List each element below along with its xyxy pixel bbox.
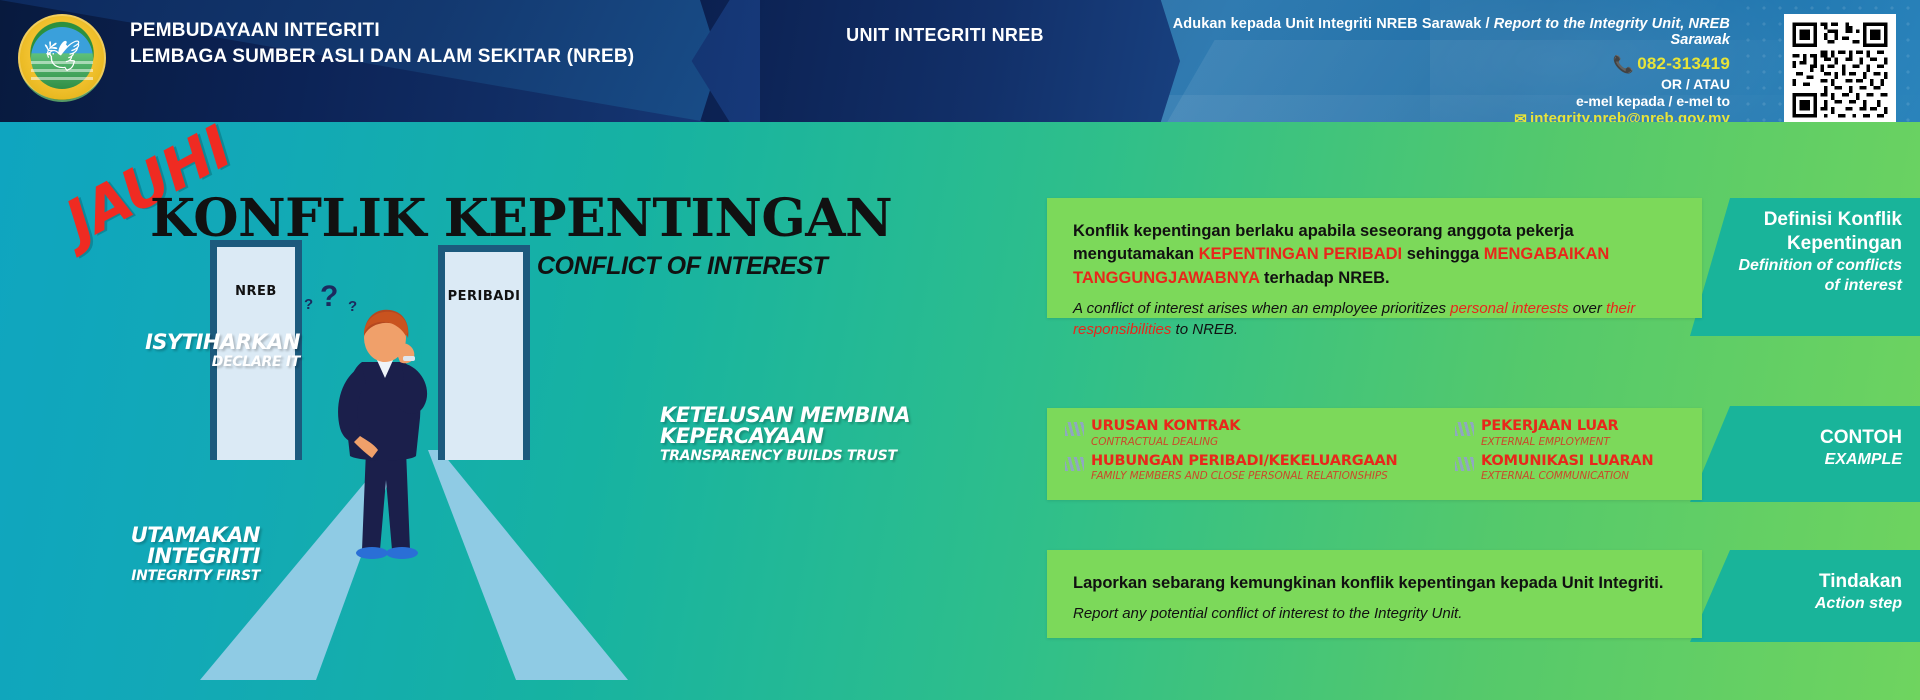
infographic-poster: 🕊 PEMBUDAYAAN INTEGRITI LEMBAGA SUMBER A… (0, 0, 1920, 700)
tab-action-ms: Tindakan (1736, 570, 1902, 594)
doors-illustration: NREB PERIBADI ? ? ? (210, 290, 810, 690)
logo-stripe (31, 77, 93, 80)
phone-number: 082-313419 (1637, 54, 1730, 73)
contact-email-label: e-mel kepada / e-mel to (1110, 93, 1730, 109)
tab-example-ms: CONTOH (1736, 426, 1902, 450)
example-item-ms: PEKERJAAN LUAR (1481, 418, 1619, 435)
def-ms-part2: sehingga (1402, 245, 1484, 263)
def-en-part2: over (1569, 300, 1607, 317)
label-declare-ms: ISYTIHARKAN (110, 332, 300, 353)
light-beam-right (428, 450, 628, 680)
example-item: URUSAN KONTRAK CONTRACTUAL DEALING (1065, 418, 1455, 448)
tab-action-en: Action step (1736, 594, 1902, 614)
action-text-ms: Laporkan sebarang kemungkinan konflik ke… (1073, 572, 1676, 595)
example-item-ms: HUBUNGAN PERIBADI/KEKELUARGAAN (1091, 453, 1397, 470)
definition-text-ms: Konflik kepentingan berlaku apabila sese… (1073, 220, 1676, 290)
org-title-line2: LEMBAGA SUMBER ASLI DAN ALAM SEKITAR (NR… (130, 44, 634, 70)
door-panel (445, 252, 523, 460)
door-label-nreb: NREB (210, 284, 302, 299)
nreb-logo-icon: 🕊 (18, 14, 106, 102)
label-integrity-ms: UTAMAKAN INTEGRITI (30, 525, 260, 567)
hand-leaf-icon: 🕊 (43, 42, 81, 72)
unit-title: UNIT INTEGRITI NREB (780, 25, 1110, 46)
label-transparency-en: TRANSPARENCY BUILDS TRUST (660, 449, 920, 463)
tab-example: CONTOH EXAMPLE (1690, 406, 1920, 502)
bars-icon (1065, 422, 1084, 436)
label-transparency: KETELUSAN MEMBINA KEPERCAYAAN TRANSPAREN… (660, 405, 920, 463)
example-item-en: CONTRACTUAL DEALING (1091, 436, 1240, 448)
contact-or: OR / ATAU (1110, 76, 1730, 92)
qr-code-icon[interactable] (1784, 14, 1896, 126)
def-en-red1: personal interests (1450, 300, 1568, 317)
bars-icon (1455, 422, 1474, 436)
label-declare: ISYTIHARKAN DECLARE IT (110, 332, 300, 369)
example-item-en: FAMILY MEMBERS AND CLOSE PERSONAL RELATI… (1091, 470, 1397, 482)
report-line-ms: Adukan kepada Unit Integriti NREB Sarawa… (1173, 16, 1494, 32)
def-en-part1: A conflict of interest arises when an em… (1073, 300, 1450, 317)
example-item: KOMUNIKASI LUARAN EXTERNAL COMMUNICATION (1455, 453, 1685, 483)
card-definition: Konflik kepentingan berlaku apabila sese… (1047, 198, 1702, 318)
example-item-en: EXTERNAL COMMUNICATION (1481, 470, 1653, 482)
example-items-grid: URUSAN KONTRAK CONTRACTUAL DEALING PEKER… (1065, 418, 1685, 482)
example-item-ms: URUSAN KONTRAK (1091, 418, 1240, 435)
definition-text-en: A conflict of interest arises when an em… (1073, 299, 1676, 340)
org-title-line1: PEMBUDAYAAN INTEGRITI (130, 18, 634, 44)
def-ms-part3: terhadap NREB. (1259, 269, 1389, 287)
phone-icon: 📞 (1613, 55, 1634, 75)
example-item-ms: KOMUNIKASI LUARAN (1481, 453, 1653, 470)
tab-definition: Definisi Konflik Kepentingan Definition … (1690, 198, 1920, 336)
contact-phone[interactable]: 📞082-313419 (1110, 54, 1730, 75)
example-item-en: EXTERNAL EMPLOYMENT (1481, 436, 1619, 448)
tab-definition-ms: Definisi Konflik Kepentingan (1736, 208, 1902, 256)
bars-icon (1455, 457, 1474, 471)
def-ms-red1: KEPENTINGAN PERIBADI (1199, 245, 1403, 263)
door-label-peribadi: PERIBADI (438, 289, 530, 304)
label-declare-en: DECLARE IT (110, 355, 300, 369)
report-line: Adukan kepada Unit Integriti NREB Sarawa… (1110, 16, 1730, 48)
label-integrity-en: INTEGRITY FIRST (30, 569, 260, 583)
door-peribadi[interactable]: PERIBADI (438, 245, 530, 460)
tab-definition-en: Definition of conflicts of interest (1736, 256, 1902, 296)
tab-action: Tindakan Action step (1690, 550, 1920, 642)
tab-example-en: EXAMPLE (1736, 450, 1902, 470)
report-line-en: Report to the Integrity Unit, NREB Saraw… (1494, 16, 1730, 48)
businessman-figure-icon (320, 300, 430, 580)
header-center-plate (700, 0, 1180, 122)
action-text-en: Report any potential conflict of interes… (1073, 604, 1676, 625)
def-en-part3: to NREB. (1171, 321, 1238, 338)
card-action: Laporkan sebarang kemungkinan konflik ke… (1047, 550, 1702, 638)
label-transparency-ms: KETELUSAN MEMBINA KEPERCAYAAN (660, 405, 920, 447)
example-item: HUBUNGAN PERIBADI/KEKELUARGAAN FAMILY ME… (1065, 453, 1455, 483)
bars-icon (1065, 457, 1084, 471)
label-integrity-first: UTAMAKAN INTEGRITI INTEGRITY FIRST (30, 525, 260, 583)
example-item: PEKERJAAN LUAR EXTERNAL EMPLOYMENT (1455, 418, 1685, 448)
logo-inner-disc: 🕊 (31, 27, 93, 89)
org-title: PEMBUDAYAAN INTEGRITI LEMBAGA SUMBER ASL… (130, 18, 634, 69)
